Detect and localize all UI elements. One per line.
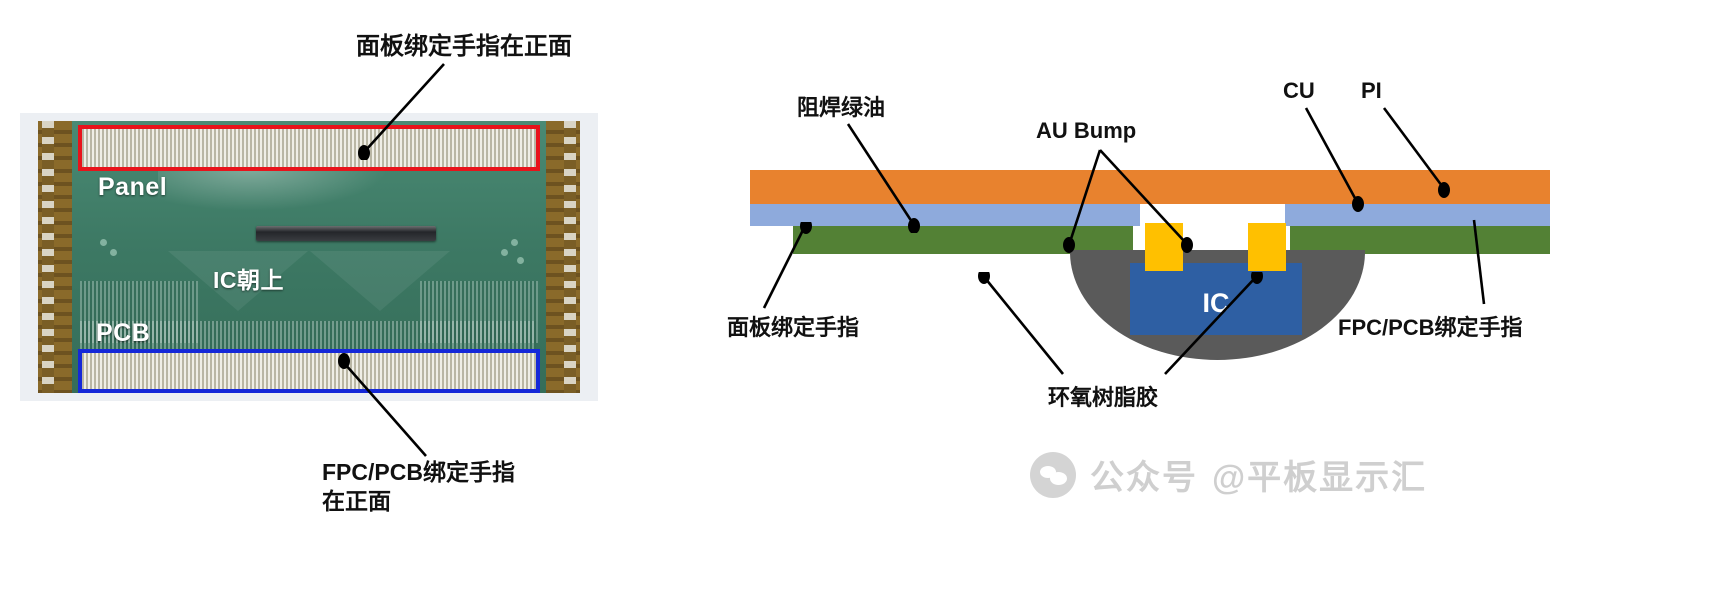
leader-line-fpc-pcb-bonding-finger xyxy=(1462,216,1502,311)
film-sprocket-rail-right xyxy=(546,121,580,393)
leader-line-top-callout xyxy=(330,60,460,160)
leader-line-cu xyxy=(1300,104,1380,214)
label-au-bump: AU Bump xyxy=(1036,118,1136,144)
label-cu: CU xyxy=(1283,78,1315,104)
leader-line-solder-resist xyxy=(840,118,950,233)
callout-pcb-finger-front: FPC/PCB绑定手指 在正面 xyxy=(322,458,515,516)
leader-line-pi xyxy=(1378,104,1468,199)
cof-photo: Panel IC朝上 PCB xyxy=(20,113,598,401)
label-epoxy: 环氧树脂胶 xyxy=(1048,380,1158,412)
ic-chip-photo xyxy=(256,226,436,241)
photo-label-pcb: PCB xyxy=(96,319,150,348)
label-pi: PI xyxy=(1361,78,1382,104)
pcb-finger-highlight-box xyxy=(78,349,540,393)
label-panel-bonding-finger: 面板绑定手指 xyxy=(727,310,859,342)
film-sprocket-rail-left xyxy=(38,121,72,393)
leader-line-panel-bonding-finger xyxy=(752,222,822,312)
leader-line-bottom-callout xyxy=(330,352,450,462)
photo-label-panel: Panel xyxy=(98,173,167,202)
label-fpc-pcb-bonding-finger: FPC/PCB绑定手指 xyxy=(1338,310,1523,342)
wechat-icon xyxy=(1030,452,1076,498)
cof-photo-image: Panel IC朝上 PCB xyxy=(38,121,580,393)
panel-finger-highlight-box xyxy=(78,125,540,171)
photo-label-ic-orientation: IC朝上 xyxy=(213,261,284,295)
watermark-prefix: 公众号 xyxy=(1090,450,1198,499)
leader-line-epoxy xyxy=(975,272,1265,382)
watermark-handle: @平板显示汇 xyxy=(1212,450,1427,499)
leader-line-au-bump xyxy=(1055,146,1255,256)
callout-panel-finger-front: 面板绑定手指在正面 xyxy=(356,32,572,62)
diagram-canvas: Panel IC朝上 PCB 面板绑定手指在正面 FPC/PCB绑定手指 在正面… xyxy=(0,0,1727,595)
watermark: 公众号 @平板显示汇 xyxy=(1030,450,1427,499)
